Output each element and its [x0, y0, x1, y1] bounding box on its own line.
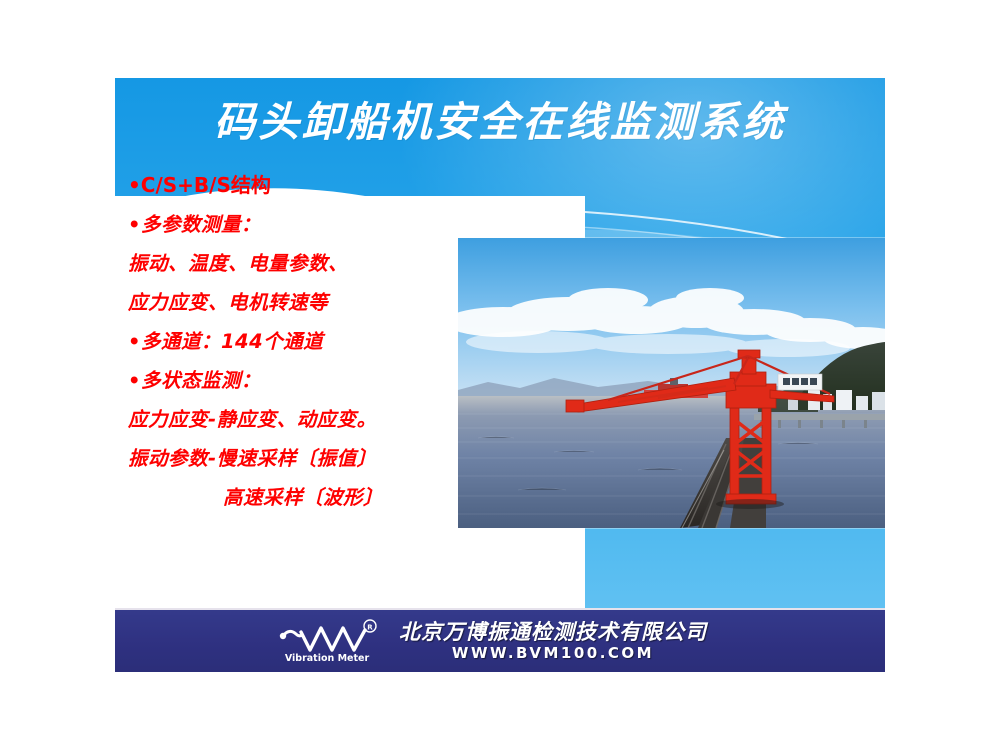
- list-item: 应力应变-静应变、动应变。: [128, 400, 478, 439]
- footer-company-block: 北京万博振通检测技术有限公司 WWW.BVM100.COM: [399, 621, 707, 662]
- ship-unloader-photo: [458, 238, 885, 528]
- list-item: 应力应变、电机转速等: [128, 283, 478, 322]
- list-item: •多状态监测：: [128, 361, 478, 400]
- vibration-meter-logo-icon: R Vibration Meter: [277, 618, 385, 664]
- svg-text:R: R: [367, 624, 373, 632]
- list-item: 高速采样〔波形〕: [128, 478, 478, 517]
- company-name-cn: 北京万博振通检测技术有限公司: [399, 621, 707, 643]
- list-item: •C/S+B/S结构: [128, 166, 478, 205]
- bullet-list: •C/S+B/S结构 •多参数测量： 振动、温度、电量参数、 应力应变、电机转速…: [128, 166, 478, 517]
- list-item: 振动参数-慢速采样〔振值〕: [128, 439, 478, 478]
- footer-brand-bar: R Vibration Meter 北京万博振通检测技术有限公司 WWW.BVM…: [115, 608, 885, 672]
- list-item: •多通道：144个通道: [128, 322, 478, 361]
- company-website: WWW.BVM100.COM: [452, 646, 654, 662]
- slide-page: 码头卸船机安全在线监测系统 •C/S+B/S结构 •多参数测量： 振动、温度、电…: [0, 0, 1000, 750]
- logo-tagline: Vibration Meter: [285, 653, 370, 664]
- footer-inner: R Vibration Meter 北京万博振通检测技术有限公司 WWW.BVM…: [277, 618, 707, 664]
- list-item: •多参数测量：: [128, 205, 478, 244]
- slide-canvas: 码头卸船机安全在线监测系统 •C/S+B/S结构 •多参数测量： 振动、温度、电…: [115, 78, 885, 608]
- list-item: 振动、温度、电量参数、: [128, 244, 478, 283]
- page-title: 码头卸船机安全在线监测系统: [115, 100, 885, 145]
